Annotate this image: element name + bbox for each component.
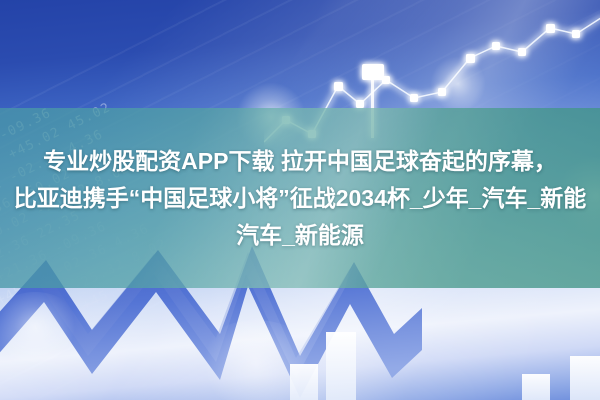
teal-overlay-band [0, 108, 600, 288]
overlay-sheen [0, 108, 600, 288]
bar-chart-icon [286, 296, 600, 400]
article-banner: -45.02 +21.36 -09.36 -09.02 -11.25 +45.0… [0, 0, 600, 400]
